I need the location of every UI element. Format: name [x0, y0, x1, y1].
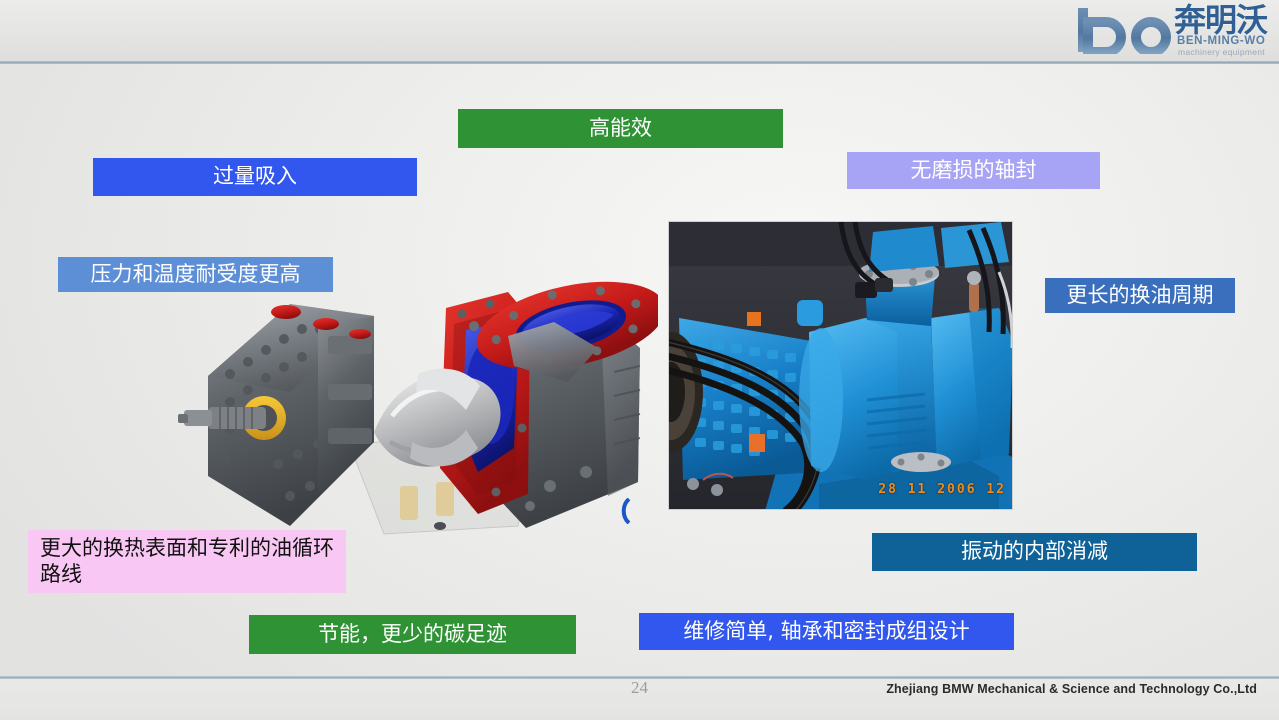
- logo-chinese-name: 奔明沃: [1174, 3, 1267, 37]
- logo-latin-name: BEN-MING-WO: [1177, 35, 1265, 47]
- bo-monogram-icon: [1072, 6, 1184, 54]
- callout-longer-oil-change-label: 更长的换油周期: [1067, 283, 1214, 309]
- presentation-slide: 奔明沃 BEN-MING-WO machinery equipment: [0, 0, 1279, 720]
- blue-compressor-photo: 28 11 2006 12: [668, 221, 1013, 510]
- callout-larger-heat-surface[interactable]: 更大的换热表面和专利的油循环路线: [28, 530, 346, 593]
- callout-energy-saving-carbon-label: 节能，更少的碳足迹: [318, 622, 507, 648]
- company-logo: 奔明沃 BEN-MING-WO machinery equipment: [1070, 2, 1275, 60]
- callout-energy-saving-carbon[interactable]: 节能，更少的碳足迹: [249, 615, 576, 654]
- callout-easy-maintenance-label: 维修简单, 轴承和密封成组设计: [683, 619, 969, 645]
- callout-longer-oil-change[interactable]: 更长的换油周期: [1045, 278, 1235, 313]
- callout-higher-pressure-temp-label: 压力和温度耐受度更高: [91, 262, 301, 288]
- photo-content: [669, 222, 1013, 510]
- blue-arc-artifact-icon: [620, 498, 634, 524]
- callout-high-efficiency-label: 高能效: [589, 116, 652, 142]
- callout-wear-free-shaft-seal[interactable]: 无磨损的轴封: [847, 152, 1100, 189]
- callout-high-efficiency[interactable]: 高能效: [458, 109, 783, 148]
- callout-vibration-reduction[interactable]: 振动的内部消减: [872, 533, 1197, 571]
- callout-easy-maintenance[interactable]: 维修简单, 轴承和密封成组设计: [639, 613, 1014, 650]
- screw-compressor-cad-image: [178, 196, 658, 544]
- callout-over-suction[interactable]: 过量吸入: [93, 158, 417, 196]
- photo-date-stamp: 28 11 2006 12: [878, 482, 1006, 497]
- logo-tagline: machinery equipment: [1178, 47, 1265, 57]
- callout-wear-free-shaft-seal-label: 无磨损的轴封: [911, 158, 1037, 184]
- header-divider-rule: [0, 61, 1279, 64]
- cad-drawing: [178, 196, 658, 544]
- footer-company-name: Zhejiang BMW Mechanical & Science and Te…: [886, 682, 1257, 696]
- callout-higher-pressure-temp[interactable]: 压力和温度耐受度更高: [58, 257, 333, 292]
- callout-larger-heat-surface-label: 更大的换热表面和专利的油循环路线: [40, 536, 338, 587]
- callout-vibration-reduction-label: 振动的内部消减: [961, 539, 1108, 565]
- callout-over-suction-label: 过量吸入: [213, 164, 297, 190]
